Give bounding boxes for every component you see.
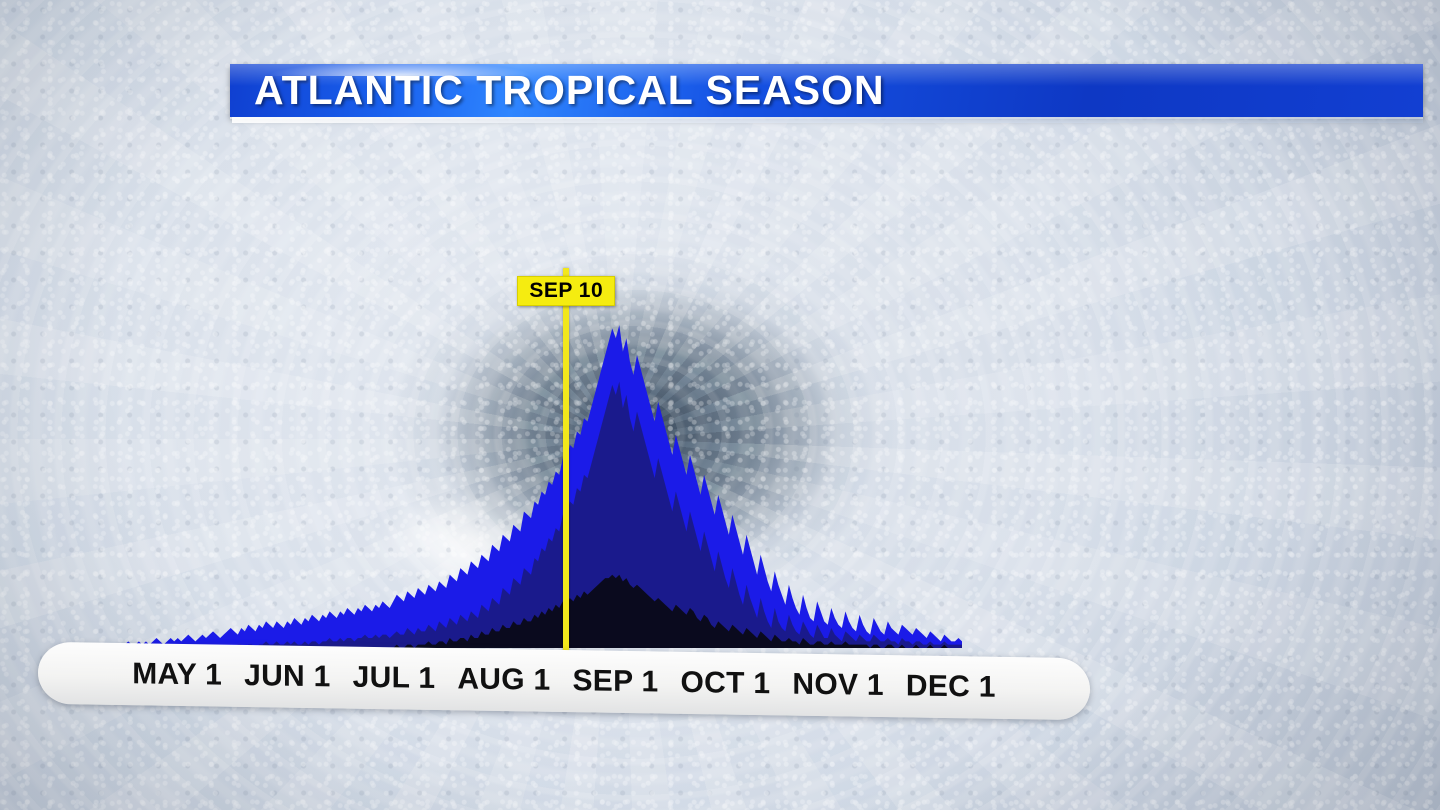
axis-tick-sep-1: SEP 1	[562, 664, 670, 700]
peak-date-label: SEP 10	[517, 276, 615, 306]
axis-tick-jun-1: JUN 1	[233, 659, 342, 695]
axis-tick-jul-1: JUL 1	[342, 661, 447, 697]
axis-tick-dec-1: DEC 1	[895, 669, 1007, 705]
page-title: ATLANTIC TROPICAL SEASON	[254, 67, 885, 114]
area-series-hurricanes	[100, 382, 962, 648]
weather-graphic: SEP 10 MAY 1JUN 1JUL 1AUG 1SEP 1OCT 1NOV…	[0, 0, 1440, 810]
axis-tick-may-1: MAY 1	[121, 657, 233, 693]
axis-tick-nov-1: NOV 1	[781, 667, 895, 703]
axis-tick-aug-1: AUG 1	[446, 662, 561, 698]
banner-underline	[232, 117, 1423, 123]
axis-tick-oct-1: OCT 1	[670, 666, 782, 702]
peak-vertical-line	[563, 268, 569, 662]
title-banner: ATLANTIC TROPICAL SEASON	[230, 64, 1423, 117]
